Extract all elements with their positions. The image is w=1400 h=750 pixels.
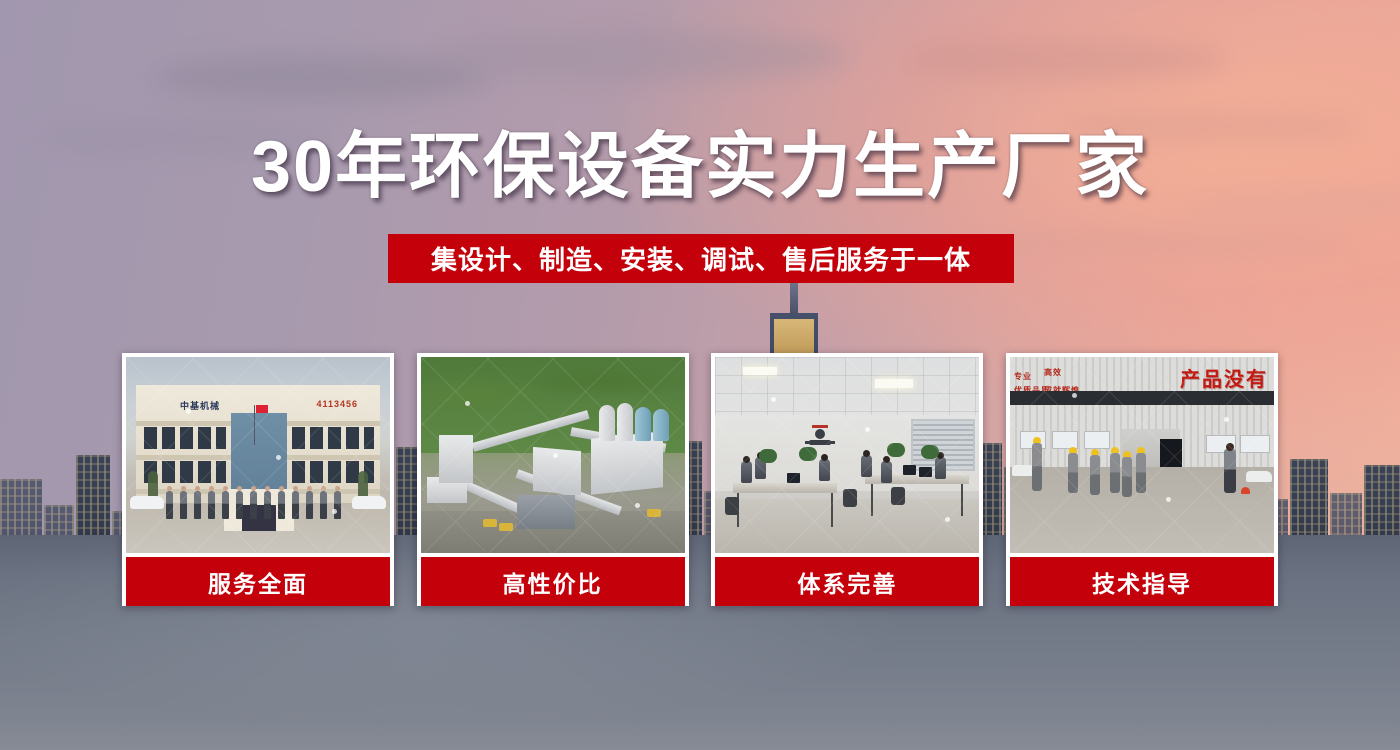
wall-decal — [803, 423, 837, 449]
card-photo-factory-workers: 产品没有 专业 高效 优质品质 成就辉煌 — [1010, 357, 1274, 553]
card-label: 高性价比 — [421, 557, 685, 606]
cloud — [900, 40, 1230, 80]
factory-wall-banner: 产品没有 — [1180, 363, 1268, 392]
promotional-banner: 30年环保设备实力生产厂家 集设计、制造、安装、调试、售后服务于一体 — [0, 0, 1400, 750]
card-label: 服务全面 — [126, 557, 390, 606]
factory-slogan-2: 高效 — [1044, 367, 1062, 378]
page-title: 30年环保设备实力生产厂家 — [0, 131, 1400, 203]
card-photo-company-building: 中基机械 4113456 — [126, 357, 390, 553]
cloud — [430, 30, 850, 82]
feature-card-list: 中基机械 4113456 — [122, 353, 1278, 606]
feature-card[interactable]: 中基机械 4113456 — [122, 353, 394, 606]
feature-card[interactable]: 体系完善 — [711, 353, 983, 606]
factory-slogan-1: 专业 — [1014, 371, 1032, 382]
card-photo-office-interior — [715, 357, 979, 553]
card-label-text: 高性价比 — [503, 565, 603, 599]
subtitle-text: 集设计、制造、安装、调试、售后服务于一体 — [431, 240, 971, 277]
card-photo-industrial-plant — [421, 357, 685, 553]
feature-card[interactable]: 产品没有 专业 高效 优质品质 成就辉煌 — [1006, 353, 1278, 606]
building-phone-number: 4113456 — [316, 399, 358, 409]
card-label: 体系完善 — [715, 557, 979, 606]
card-label-text: 服务全面 — [208, 565, 308, 599]
card-label-text: 体系完善 — [797, 565, 897, 599]
feature-card[interactable]: 高性价比 — [417, 353, 689, 606]
subtitle-band: 集设计、制造、安装、调试、售后服务于一体 — [388, 234, 1014, 283]
wall-decal-icon — [803, 423, 837, 449]
card-label-text: 技术指导 — [1092, 565, 1192, 599]
card-label: 技术指导 — [1010, 557, 1274, 606]
